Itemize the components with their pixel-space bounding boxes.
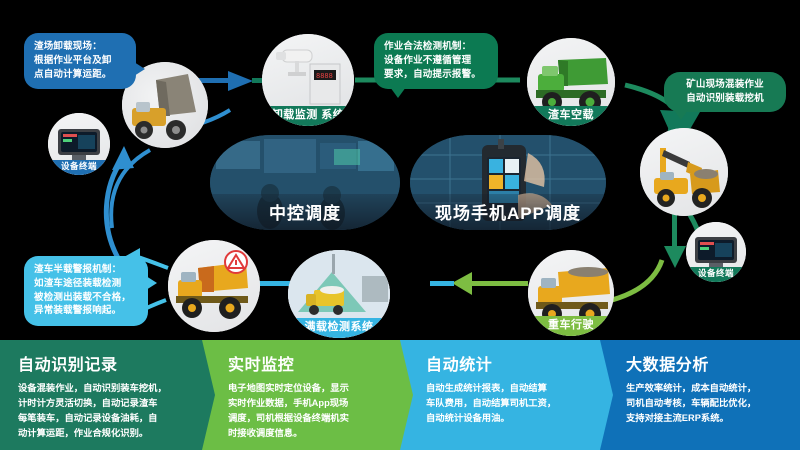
feature-auto-recognition[interactable]: 自动识别记录 设备混装作业，自动识别装车挖机， 计时计方灵活切换，自动记录渣车 … — [0, 340, 202, 450]
callout-dump-site[interactable]: 渣场卸载现场： 根据作业平台及卸 点自动计算运距。 — [24, 33, 136, 89]
diagram-canvas: 8888 卸载监测 系统 渣车 — [0, 0, 800, 450]
callout-text: 渣车半载警报机制： 如渣车途径装载检测 被检测出装载不合格， 异常装载警报响起。 — [34, 264, 131, 316]
bubble-tail — [390, 87, 406, 98]
chevron-notch — [202, 340, 215, 450]
arrowhead-left-loop — [112, 146, 134, 170]
warning-truck-icon — [168, 240, 260, 332]
bubble-tail — [674, 110, 688, 120]
callout-text: 矿山现场混装作业 自动识别装载挖机 — [686, 79, 764, 104]
callout-half-load-alarm[interactable]: 渣车半载警报机制： 如渣车途径装载检测 被检测出装载不合格， 异常装载警报响起。 — [24, 256, 148, 326]
bubble-tail — [146, 276, 157, 290]
node-excavator-loading[interactable] — [640, 128, 728, 216]
callout-legal-check[interactable]: 作业合法检测机制： 设备作业不遵循管理 要求，自动提示报警。 — [374, 33, 498, 89]
node-label: 满载检测系统 — [288, 318, 390, 338]
feature-bar: 自动识别记录 设备混装作业，自动识别装车挖机， 计时计方灵活切换，自动记录渣车 … — [0, 340, 800, 450]
excavator-loading-icon — [640, 128, 728, 216]
feature-body: 设备混装作业，自动识别装车挖机， 计时计方灵活切换，自动记录渣车 每笔装车，自动… — [18, 381, 188, 441]
feature-body: 生产效率统计，成本自动统计， 司机自动考核，车辆配比优化， 支持对接主流ERP系… — [626, 381, 786, 426]
node-device-terminal-left[interactable]: 设备终端 — [48, 113, 110, 175]
panel-central-dispatch[interactable]: 中控调度 — [210, 135, 400, 230]
callout-text: 渣场卸载现场： 根据作业平台及卸 点自动计算运距。 — [34, 41, 112, 80]
connector-dump-to-terminal — [111, 150, 150, 228]
node-full-load-detection[interactable]: 满载检测系统 — [288, 250, 390, 338]
feature-bigdata-analysis[interactable]: 大数据分析 生产效率统计，成本自动统计， 司机自动考核，车辆配比优化， 支持对接… — [600, 340, 800, 450]
callout-text: 作业合法检测机制： 设备作业不遵循管理 要求，自动提示报警。 — [384, 41, 481, 80]
feature-body: 自动生成统计报表，自动结算 车队费用，自动结算司机工资， 自动统计设备用油。 — [426, 381, 586, 426]
node-label: 设备终端 — [686, 267, 746, 282]
node-label: 重车行驶 — [528, 316, 614, 336]
feature-title: 大数据分析 — [626, 351, 786, 375]
node-empty-truck[interactable]: 渣车空载 — [527, 38, 615, 126]
panel-label: 中控调度 — [210, 194, 400, 230]
node-unload-monitor[interactable]: 8888 卸载监测 系统 — [262, 34, 354, 126]
warning-triangle-icon — [225, 251, 247, 273]
svg-text:8888: 8888 — [316, 72, 333, 80]
bubble-tail — [134, 62, 145, 76]
feature-title: 自动统计 — [426, 351, 586, 375]
feature-auto-statistics[interactable]: 自动统计 自动生成统计报表，自动结算 车队费用，自动结算司机工资， 自动统计设备… — [400, 340, 600, 450]
node-alarm-truck[interactable] — [168, 240, 260, 332]
connector-loaded-right-arc — [612, 260, 662, 300]
node-device-terminal-right[interactable]: 设备终端 — [686, 222, 746, 282]
arrow-green-to-fullload — [452, 272, 528, 295]
node-label: 设备终端 — [48, 160, 110, 175]
feature-title: 自动识别记录 — [18, 351, 188, 375]
node-loaded-truck[interactable]: 重车行驶 — [528, 250, 614, 336]
panel-mobile-app-dispatch[interactable]: 现场手机APP调度 — [410, 135, 606, 230]
chevron-notch — [600, 340, 613, 450]
feature-realtime-monitor[interactable]: 实时监控 电子地图实时定位设备，显示 实时作业数据，手机App现场 调度，司机根… — [202, 340, 400, 450]
callout-mine-site[interactable]: 矿山现场混装作业 自动识别装载挖机 — [664, 72, 786, 112]
feature-body: 电子地图实时定位设备，显示 实时作业数据，手机App现场 调度，司机根据设备终端… — [228, 381, 386, 441]
node-label: 渣车空载 — [527, 106, 615, 126]
chevron-notch — [400, 340, 413, 450]
connector-cyan-stub-right — [430, 281, 454, 286]
node-label: 卸载监测 系统 — [262, 106, 354, 126]
panel-label: 现场手机APP调度 — [410, 194, 606, 230]
feature-title: 实时监控 — [228, 351, 386, 375]
